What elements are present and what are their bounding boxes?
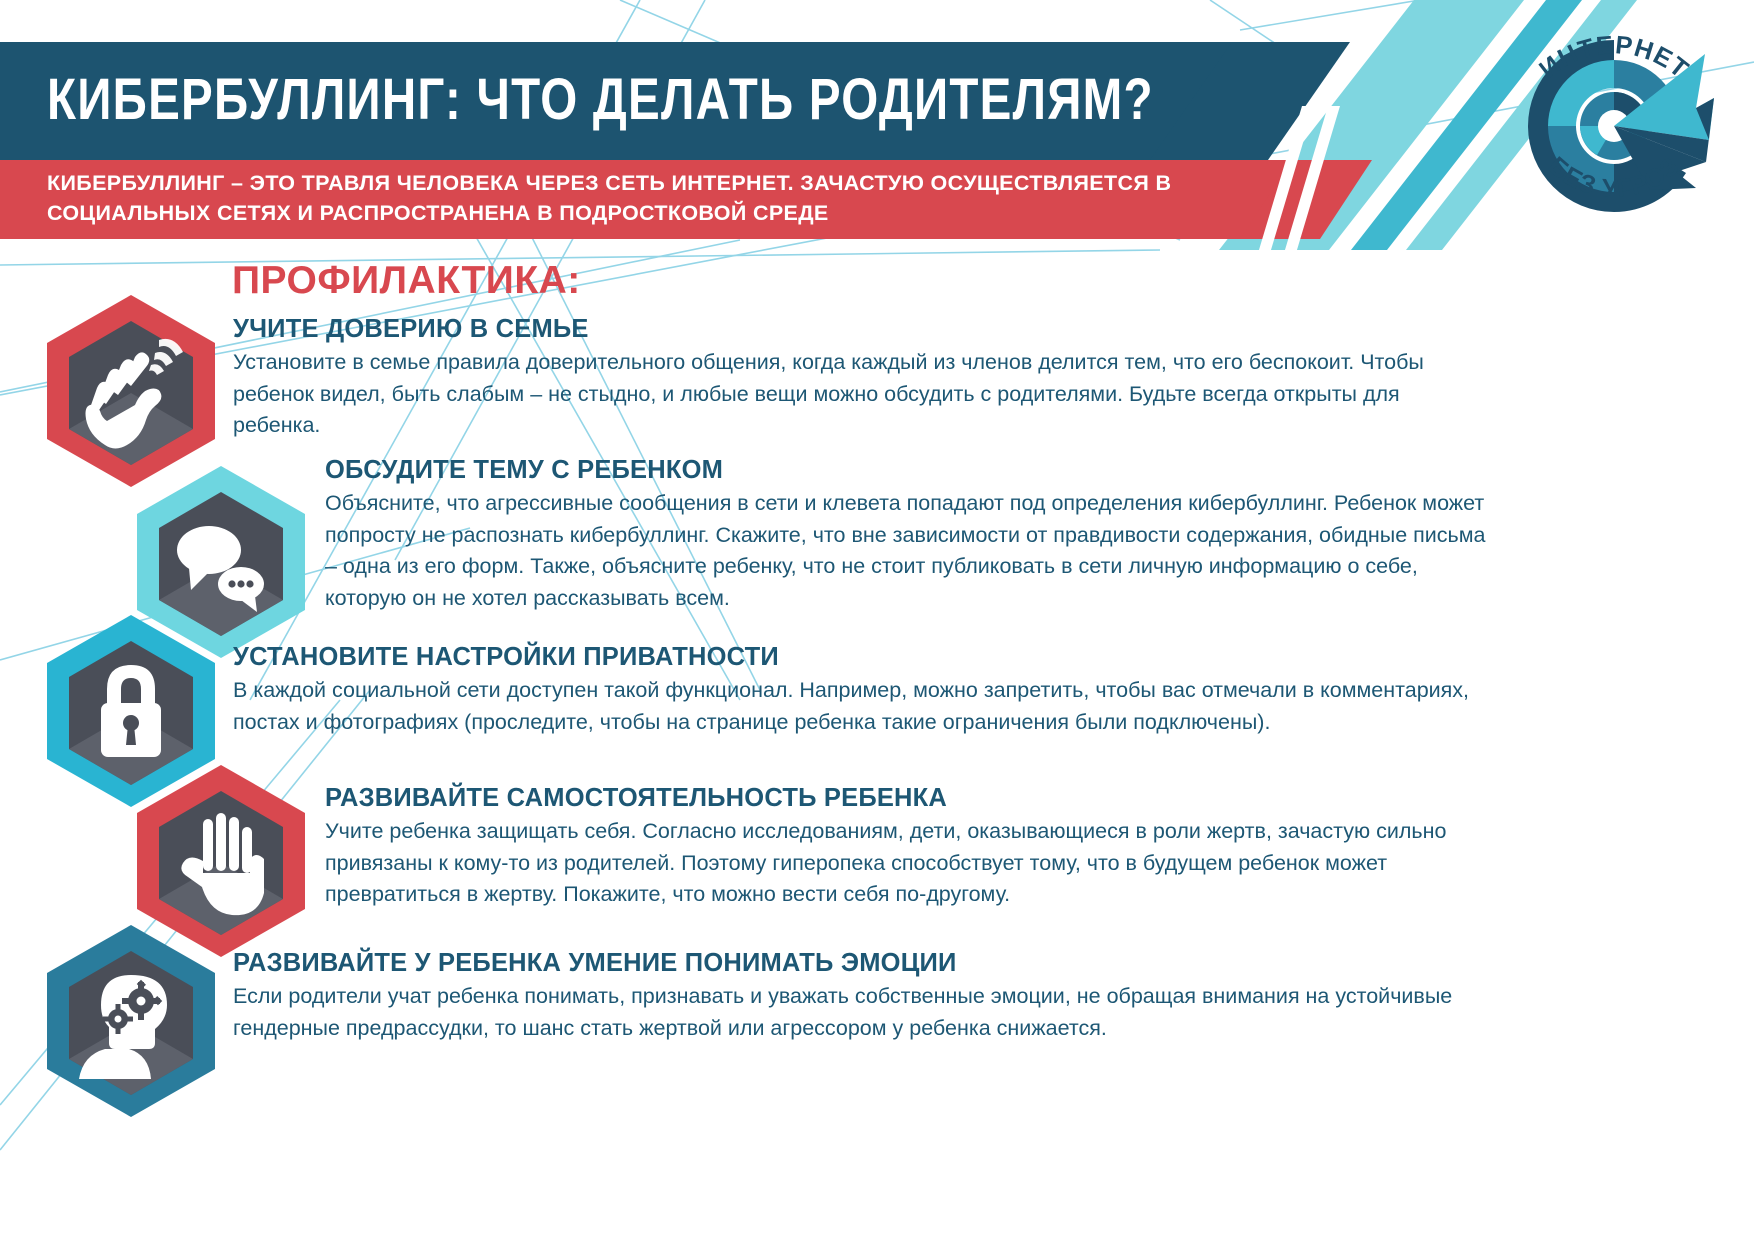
head-with-gears-icon: [43, 923, 219, 1119]
section-text-1: УЧИТЕ ДОВЕРИЮ В СЕМЬЕ Установите в семье…: [233, 314, 1485, 442]
hexagon-icon-1: [43, 293, 219, 489]
section-text-5: РАЗВИВАЙТЕ У РЕБЕНКА УМЕНИЕ ПОНИМАТЬ ЭМО…: [233, 948, 1485, 1044]
section-body-1: Установите в семье правила доверительног…: [233, 347, 1485, 442]
radar-target-icon: ИНТЕРНЕТ БЕЗ УГРОЗ: [1500, 12, 1728, 234]
section-body-4: Учите ребенка защищать себя. Согласно ис…: [325, 816, 1493, 911]
sections-list: УЧИТЕ ДОВЕРИЮ В СЕМЬЕ Установите в семье…: [0, 0, 1754, 1237]
section-heading-3: УСТАНОВИТЕ НАСТРОЙКИ ПРИВАТНОСТИ: [233, 642, 1485, 672]
section-text-3: УСТАНОВИТЕ НАСТРОЙКИ ПРИВАТНОСТИ В каждо…: [233, 642, 1485, 738]
section-body-2: Объясните, что агрессивные сообщения в с…: [325, 488, 1493, 614]
section-heading-1: УЧИТЕ ДОВЕРИЮ В СЕМЬЕ: [233, 314, 1485, 344]
waving-hand-icon: [43, 293, 219, 489]
section-heading-4: РАЗВИВАЙТЕ САМОСТОЯТЕЛЬНОСТЬ РЕБЕНКА: [325, 783, 1493, 813]
section-heading-5: РАЗВИВАЙТЕ У РЕБЕНКА УМЕНИЕ ПОНИМАТЬ ЭМО…: [233, 948, 1485, 978]
logo-internet-bez-ugroz: ИНТЕРНЕТ БЕЗ УГРОЗ: [1500, 12, 1728, 234]
section-heading-2: ОБСУДИТЕ ТЕМУ С РЕБЕНКОМ: [325, 455, 1493, 485]
section-text-4: РАЗВИВАЙТЕ САМОСТОЯТЕЛЬНОСТЬ РЕБЕНКА Учи…: [325, 783, 1493, 911]
section-body-5: Если родители учат ребенка понимать, при…: [233, 981, 1485, 1044]
hexagon-icon-5: [43, 923, 219, 1119]
section-body-3: В каждой социальной сети доступен такой …: [233, 675, 1485, 738]
section-text-2: ОБСУДИТЕ ТЕМУ С РЕБЕНКОМ Объясните, что …: [325, 455, 1493, 614]
